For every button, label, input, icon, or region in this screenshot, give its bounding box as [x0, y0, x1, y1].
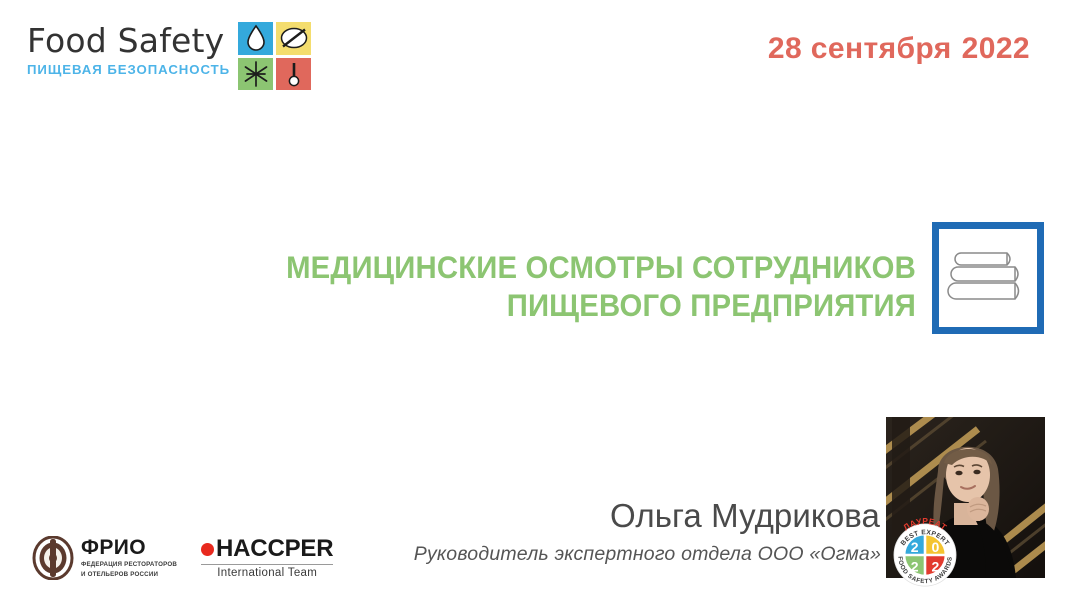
brand-subtitle: ПИЩЕВАЯ БЕЗОПАСНОСТЬ	[27, 62, 230, 77]
date-day-month: 28 сентября	[768, 32, 952, 65]
water-drop-icon	[238, 22, 273, 55]
svg-text:2: 2	[911, 558, 919, 574]
food-safety-logo-text: Food Safety ПИЩЕВАЯ БЕЗОПАСНОСТЬ	[27, 22, 230, 77]
frio-subtitle-line-2: И ОТЕЛЬЕРОВ РОССИИ	[81, 571, 177, 579]
award-badge: 2 0 2 2 BEST EXPERT FOOD SAFETY AWARDS Л…	[888, 518, 962, 592]
date-year: 2022	[962, 32, 1030, 65]
svg-text:0: 0	[931, 539, 939, 555]
partner-logos: ФРИО ФЕДЕРАЦИЯ РЕСТОРАТОРОВ И ОТЕЛЬЕРОВ …	[32, 536, 333, 580]
presentation-slide: Food Safety ПИЩЕВАЯ БЕЗОПАСНОСТЬ	[0, 0, 1067, 600]
haccper-logo: HACCPER International Team	[201, 537, 333, 579]
svg-text:2: 2	[931, 558, 939, 574]
slide-date: 28 сентября2022	[768, 32, 1030, 66]
knife-cut-icon	[276, 22, 311, 55]
stack-of-books-icon	[932, 222, 1044, 334]
speaker-name: Ольга Мудрикова	[300, 497, 880, 535]
thermometer-heat-icon	[276, 58, 311, 91]
frio-logo: ФРИО ФЕДЕРАЦИЯ РЕСТОРАТОРОВ И ОТЕЛЬЕРОВ …	[32, 536, 177, 580]
haccper-dot-icon	[201, 543, 214, 556]
snowflake-freeze-icon	[238, 58, 273, 91]
frio-emblem-icon	[32, 536, 74, 580]
haccper-name: HACCPER	[216, 537, 333, 561]
food-safety-logo: Food Safety ПИЩЕВАЯ БЕЗОПАСНОСТЬ	[27, 22, 311, 90]
frio-name: ФРИО	[81, 537, 177, 558]
haccper-subtitle: International Team	[201, 567, 333, 579]
haccper-wordmark: HACCPER	[201, 537, 333, 561]
frio-text-block: ФРИО ФЕДЕРАЦИЯ РЕСТОРАТОРОВ И ОТЕЛЬЕРОВ …	[81, 537, 177, 579]
frio-subtitle-line-1: ФЕДЕРАЦИЯ РЕСТОРАТОРОВ	[81, 561, 177, 569]
brand-icon-squares	[238, 22, 311, 90]
page-title-line-2: ПИЩЕВОГО ПРЕДПРИЯТИЯ	[194, 286, 916, 324]
page-title: МЕДИЦИНСКИЕ ОСМОТРЫ СОТРУДНИКОВ ПИЩЕВОГО…	[140, 248, 916, 324]
brand-title: Food Safety	[27, 24, 230, 59]
page-title-line-1: МЕДИЦИНСКИЕ ОСМОТРЫ СОТРУДНИКОВ	[194, 248, 916, 286]
haccper-divider	[201, 564, 333, 565]
svg-text:2: 2	[911, 539, 919, 555]
